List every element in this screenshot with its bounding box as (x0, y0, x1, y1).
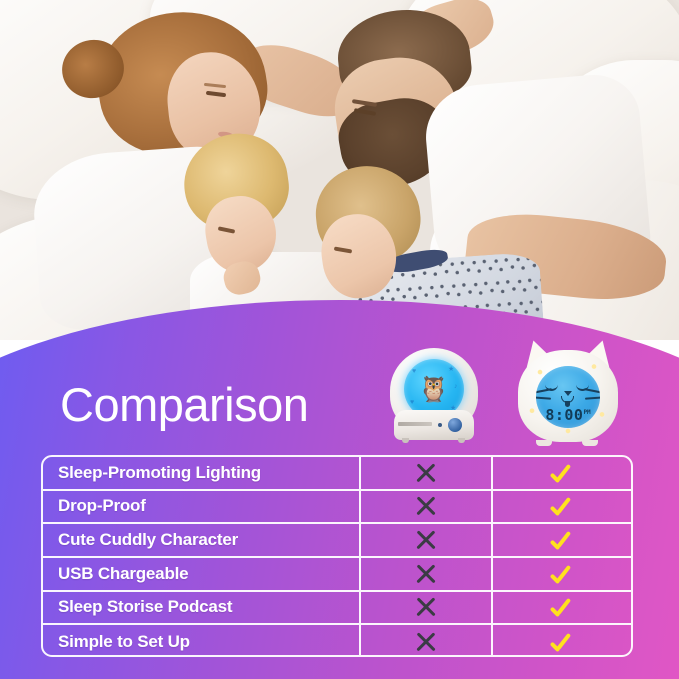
ours-cell (493, 491, 631, 523)
competitor-cell (361, 592, 493, 624)
clock-time-value: 8:00 (545, 406, 583, 424)
cross-icon (417, 564, 436, 583)
comparison-infographic: Comparison ♥ ★ ♪ ♥ ★ ♪ 🦉 (0, 0, 679, 679)
owl-power-button[interactable] (448, 418, 462, 432)
cross-icon (417, 497, 436, 516)
cat-foot (536, 440, 552, 446)
comparison-table: Sleep-Promoting LightingDrop-ProofCute C… (41, 455, 633, 657)
table-row: Cute Cuddly Character (43, 524, 631, 558)
table-row: Simple to Set Up (43, 625, 631, 657)
check-icon (550, 632, 574, 652)
owl-foot (458, 438, 465, 443)
competitor-cell (361, 491, 493, 523)
owl-indicator-led (438, 423, 442, 427)
competitor-product-image: ♥ ★ ♪ ♥ ★ ♪ 🦉 (382, 348, 486, 448)
cross-icon (417, 633, 436, 652)
ours-cell (493, 524, 631, 556)
star-icon: ★ (448, 366, 454, 373)
cat-foot (582, 440, 598, 446)
feature-label: Sleep-Promoting Lighting (43, 457, 361, 489)
ours-cell (493, 592, 631, 624)
page-title: Comparison (60, 381, 308, 428)
check-icon (550, 597, 574, 617)
feature-label: Drop-Proof (43, 491, 361, 523)
competitor-cell (361, 558, 493, 590)
competitor-cell (361, 457, 493, 489)
music-note-icon: ♪ (454, 383, 458, 390)
cat-clock-screen: 8:00PM (536, 366, 600, 428)
cat-whisker (536, 396, 551, 399)
check-icon (550, 496, 574, 516)
check-icon (550, 564, 574, 584)
competitor-cell (361, 625, 493, 657)
owl-foot (402, 438, 409, 443)
table-row: Drop-Proof (43, 491, 631, 525)
cross-icon (417, 531, 436, 550)
family-sleeping-photo (0, 0, 679, 340)
competitor-cell (361, 524, 493, 556)
clock-ampm-value: PM (583, 409, 590, 416)
ours-cell (493, 558, 631, 590)
heart-icon: ♥ (410, 399, 414, 406)
table-row: USB Chargeable (43, 558, 631, 592)
cross-icon (417, 463, 436, 482)
our-product-image: 8:00PM (512, 344, 624, 448)
ours-cell (493, 625, 631, 657)
feature-label: Cute Cuddly Character (43, 524, 361, 556)
table-row: Sleep-Promoting Lighting (43, 457, 631, 491)
feature-label: USB Chargeable (43, 558, 361, 590)
owl-character-icon: 🦉 (418, 378, 449, 403)
owl-brand-text (398, 422, 432, 426)
check-icon (550, 530, 574, 550)
clock-time-display: 8:00PM (536, 406, 600, 424)
heart-icon: ♥ (412, 368, 416, 375)
feature-label: Sleep Storise Podcast (43, 592, 361, 624)
ours-cell (493, 457, 631, 489)
check-icon (550, 463, 574, 483)
cross-icon (417, 598, 436, 617)
table-row: Sleep Storise Podcast (43, 592, 631, 626)
cat-whisker (585, 396, 600, 399)
feature-label: Simple to Set Up (43, 625, 361, 657)
